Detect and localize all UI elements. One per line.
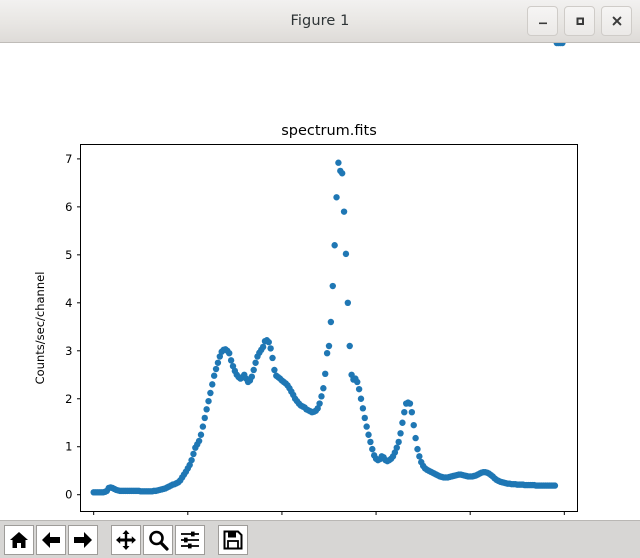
data-point [345, 300, 351, 306]
data-point [200, 423, 206, 429]
x-tick-label: 200 [459, 518, 481, 521]
data-point [198, 432, 204, 438]
toolbar-separator-1 [100, 525, 109, 555]
toolbar-separator-2 [207, 525, 216, 555]
sliders-icon [179, 529, 201, 551]
data-point [354, 379, 360, 385]
arrow-left-icon [40, 529, 62, 551]
y-tick-label: 7 [65, 152, 72, 166]
data-point [209, 381, 215, 387]
data-point [411, 422, 417, 428]
figure-window: Figure 1 [0, 0, 640, 558]
maximize-icon [573, 14, 587, 28]
data-point [328, 319, 334, 325]
data-point [252, 360, 258, 366]
save-button[interactable] [218, 525, 248, 555]
back-button[interactable] [36, 525, 66, 555]
data-point [203, 406, 209, 412]
plot-title: spectrum.fits [281, 123, 377, 139]
minimize-button[interactable] [527, 6, 558, 36]
close-button[interactable] [601, 6, 632, 36]
data-point [358, 396, 364, 402]
data-point [213, 366, 219, 372]
window-controls [527, 6, 632, 36]
y-tick-label: 6 [65, 200, 72, 214]
data-point [266, 339, 272, 345]
data-point [362, 415, 368, 421]
data-point [399, 420, 405, 426]
data-point [343, 251, 349, 257]
data-point [215, 360, 221, 366]
data-point [360, 405, 366, 411]
data-point [324, 350, 330, 356]
data-point [552, 482, 558, 488]
data-point [401, 409, 407, 415]
data-point [269, 355, 275, 361]
x-tick-label: 250 [553, 518, 575, 521]
data-point [365, 432, 371, 438]
title-bar: Figure 1 [0, 0, 640, 43]
magnifier-icon [147, 529, 169, 551]
data-point [226, 350, 232, 356]
configure-subplots-button[interactable] [175, 525, 205, 555]
x-tick-label: 0 [90, 518, 97, 521]
y-tick-label: 3 [65, 344, 72, 358]
x-tick-label: 50 [180, 518, 195, 521]
data-point [363, 423, 369, 429]
arrow-right-icon [72, 529, 94, 551]
x-tick-label: 100 [271, 518, 293, 521]
data-point [320, 385, 326, 391]
data-point [202, 415, 208, 421]
data-point [412, 435, 418, 441]
y-tick-label: 5 [65, 248, 72, 262]
data-point [316, 400, 322, 406]
axes-frame [81, 145, 578, 512]
navigation-toolbar [0, 520, 640, 558]
figure-canvas[interactable]: 050100150200250 01234567 spectrum.fits C… [0, 43, 640, 520]
data-point [394, 444, 400, 450]
data-point [249, 373, 255, 379]
y-tick-label: 4 [65, 296, 72, 310]
data-point [347, 343, 353, 349]
floppy-disk-icon [222, 529, 244, 551]
pan-button[interactable] [111, 525, 141, 555]
data-point [341, 208, 347, 214]
data-point [330, 283, 336, 289]
data-point [196, 438, 202, 444]
x-tick-label: 150 [365, 518, 387, 521]
zoom-button[interactable] [143, 525, 173, 555]
data-point [333, 194, 339, 200]
data-point [228, 357, 234, 363]
data-point [205, 398, 211, 404]
maximize-button[interactable] [564, 6, 595, 36]
y-tick-label: 0 [65, 488, 72, 502]
data-point [407, 400, 413, 406]
data-point [367, 439, 373, 445]
data-point [260, 344, 266, 350]
spectrum-plot[interactable]: 050100150200250 01234567 spectrum.fits C… [0, 43, 640, 520]
data-point [356, 386, 362, 392]
home-icon [8, 529, 30, 551]
data-point [322, 371, 328, 377]
y-axis-label: Counts/sec/channel [33, 272, 47, 385]
data-point [335, 160, 341, 166]
window-title: Figure 1 [291, 13, 350, 29]
forward-button[interactable] [68, 525, 98, 555]
data-point [188, 457, 194, 463]
data-point [251, 367, 257, 373]
data-point [395, 439, 401, 445]
home-button[interactable] [4, 525, 34, 555]
data-point [190, 451, 196, 457]
y-tick-label: 1 [65, 440, 72, 454]
data-point [409, 409, 415, 415]
data-point [331, 242, 337, 248]
data-point [369, 446, 375, 452]
data-point [326, 343, 332, 349]
data-point [207, 390, 213, 396]
data-point [397, 430, 403, 436]
move-icon [115, 529, 137, 551]
data-point [414, 446, 420, 452]
data-point [416, 453, 422, 459]
data-point [211, 373, 217, 379]
minimize-icon [536, 14, 550, 28]
data-point [318, 393, 324, 399]
close-icon [610, 14, 624, 28]
data-point [339, 170, 345, 176]
data-point [267, 345, 273, 351]
y-tick-label: 2 [65, 392, 72, 406]
data-point [271, 367, 277, 373]
